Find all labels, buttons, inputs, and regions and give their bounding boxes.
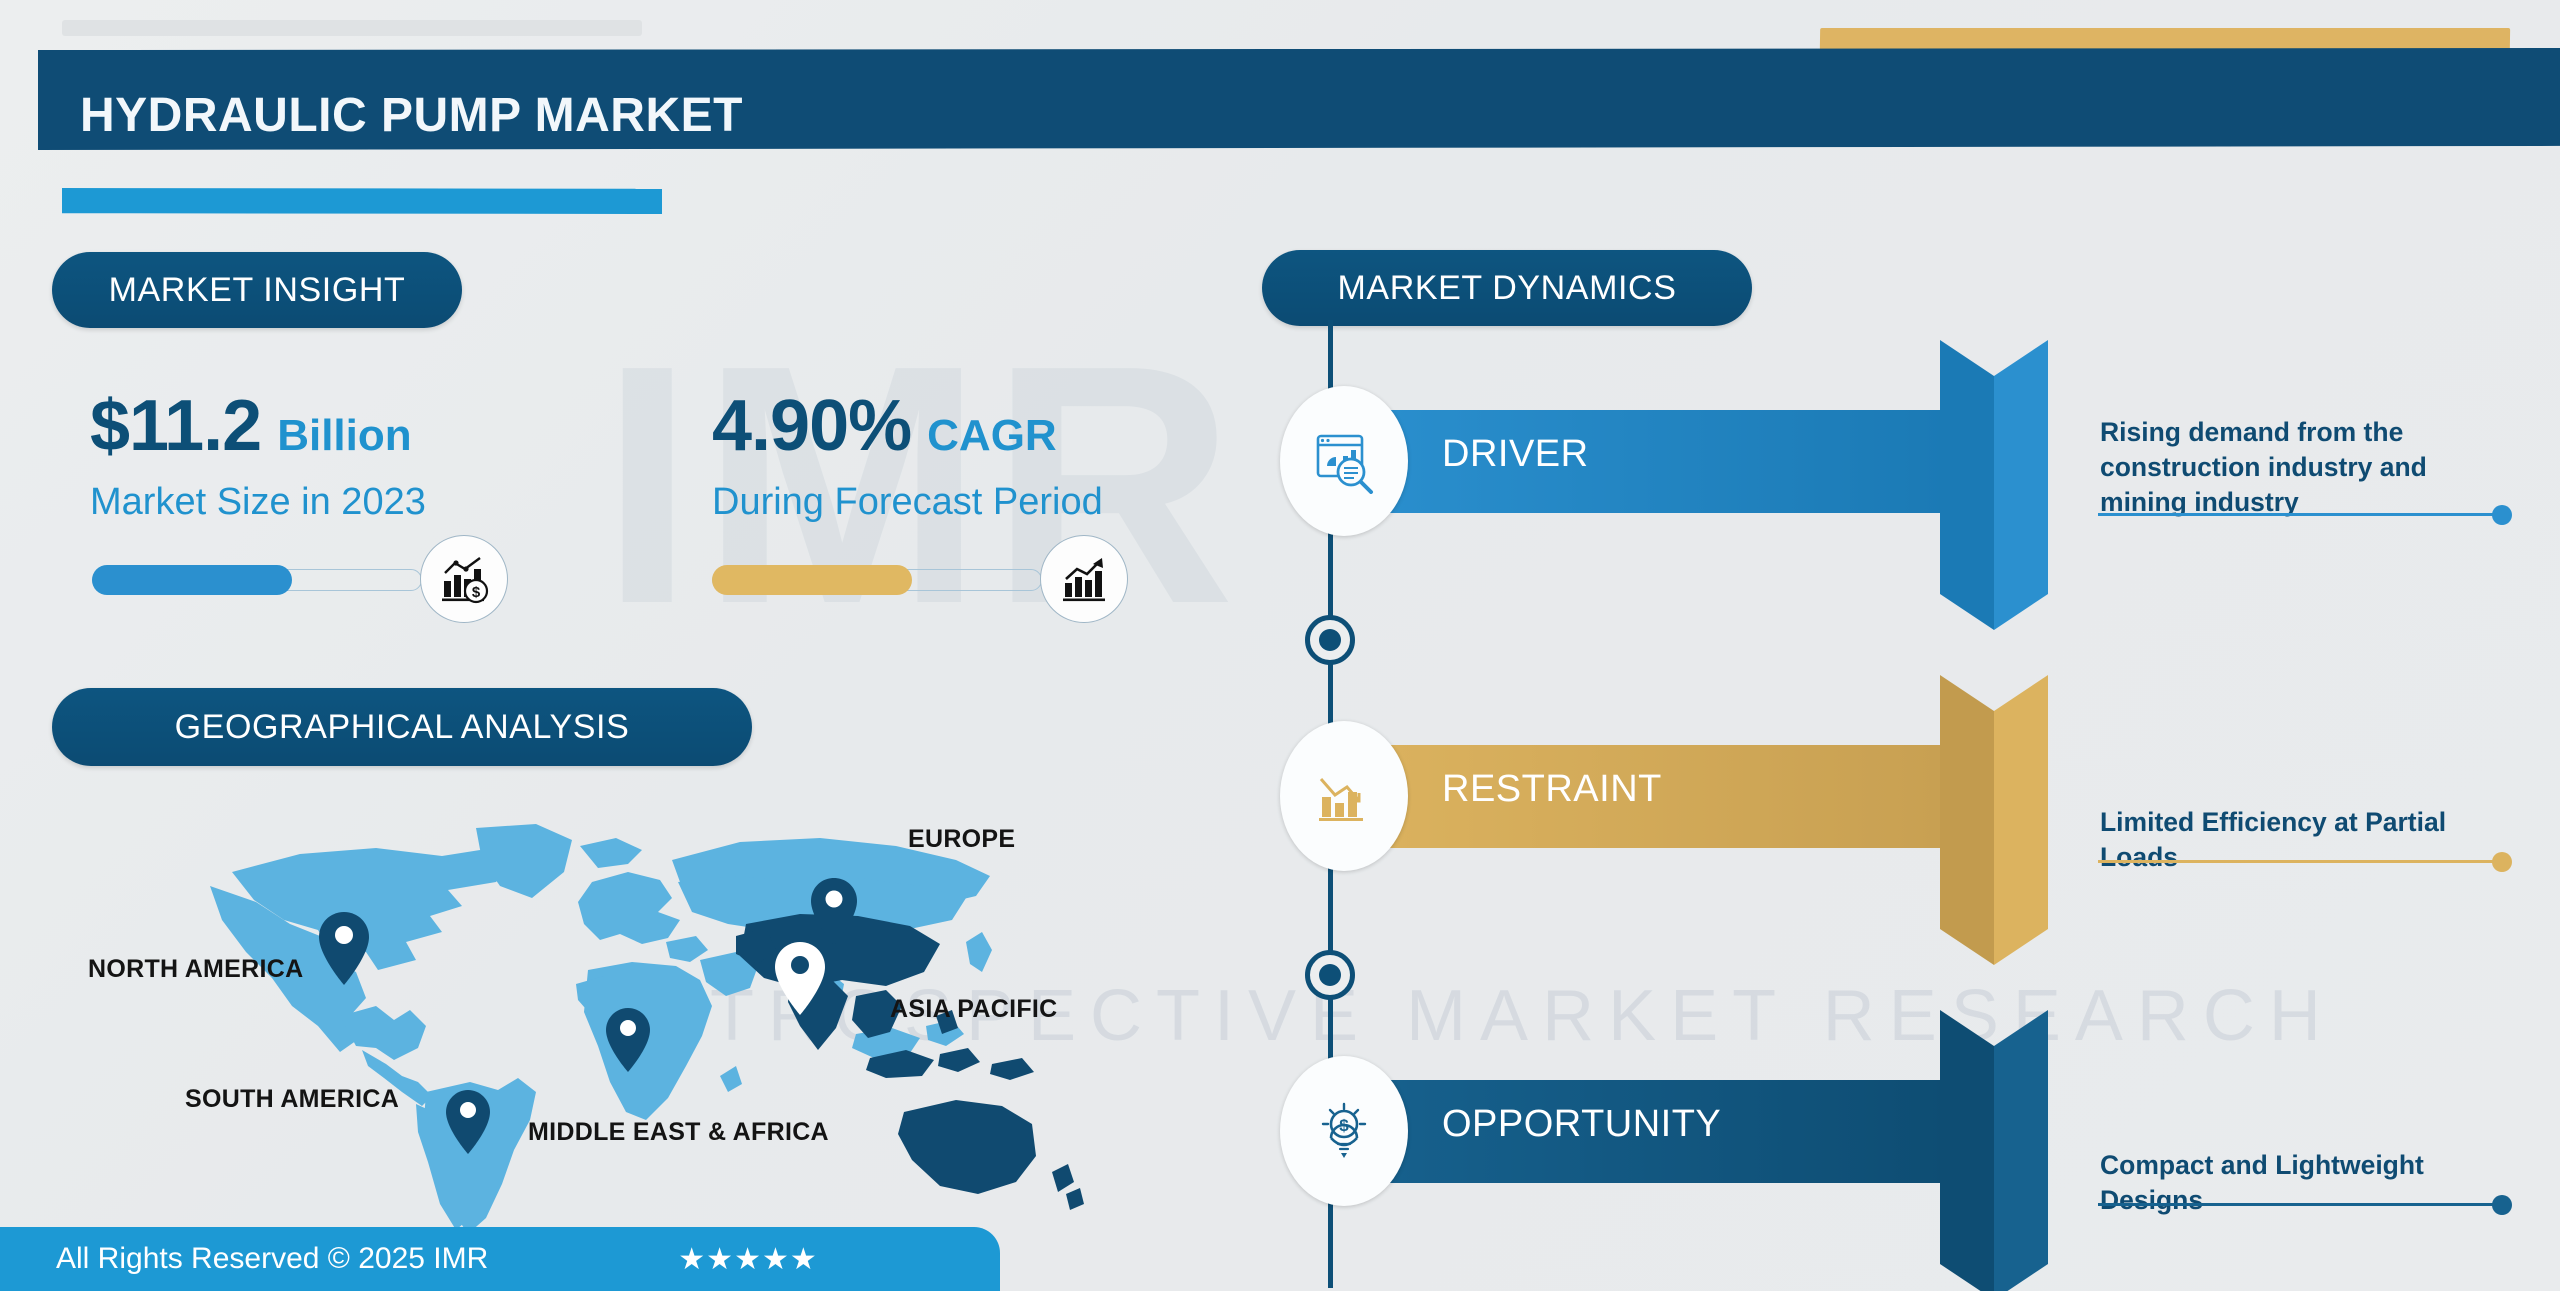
dynamics-row-driver: DRIVER Rising demand from the constructi…	[1280, 330, 2550, 630]
stat-cagr: 4.90% CAGR During Forecast Period	[712, 385, 1103, 524]
report-magnifier-icon	[1280, 386, 1408, 536]
declining-chart-icon	[1280, 721, 1408, 871]
driver-label: DRIVER	[1442, 433, 1589, 476]
stat-cagr-label: During Forecast Period	[712, 481, 1103, 524]
restraint-description: Limited Efficiency at Partial Loads	[2100, 805, 2520, 875]
growth-arrow-chart-icon	[1040, 535, 1128, 623]
driver-banner	[1328, 410, 1946, 513]
map-label-asia-pacific: ASIA PACIFIC	[890, 995, 1058, 1024]
market-size-progress: $	[92, 565, 422, 595]
bar-chart-dollar-icon: $	[420, 535, 508, 623]
stat-cagr-unit: CAGR	[927, 411, 1057, 461]
infographic-canvas: IMR INTROSPECTIVE MARKET RESEARCH HYDRAU…	[0, 0, 2560, 1291]
restraint-label: RESTRAINT	[1442, 768, 1662, 811]
opportunity-label: OPPORTUNITY	[1442, 1103, 1721, 1146]
rating-stars: ★★★★★	[678, 1242, 817, 1277]
restraint-connector-line	[2098, 860, 2498, 863]
geographical-analysis-badge: GEOGRAPHICAL ANALYSIS	[52, 688, 752, 766]
progress-fill	[92, 565, 292, 595]
world-map	[180, 820, 1100, 1240]
header-blue-accent	[62, 188, 662, 214]
opportunity-description: Compact and Lightweight Designs	[2100, 1148, 2520, 1218]
map-label-south-america: SOUTH AMERICA	[185, 1085, 399, 1114]
header-shadow-bar	[62, 20, 642, 36]
driver-connector-line	[2098, 513, 2498, 516]
lightbulb-dollar-icon: $	[1280, 1056, 1408, 1206]
dynamics-row-restraint: RESTRAINT Limited Efficiency at Partial …	[1280, 665, 2550, 965]
footer-bar: All Rights Reserved © 2025 IMR ★★★★★	[0, 1227, 1000, 1291]
driver-arrow	[1940, 340, 2048, 630]
map-label-north-america: NORTH AMERICA	[88, 955, 303, 984]
header-gold-accent	[1820, 28, 2510, 50]
restraint-arrow	[1940, 675, 2048, 965]
stat-market-size-label: Market Size in 2023	[90, 481, 426, 524]
driver-description: Rising demand from the construction indu…	[2100, 415, 2520, 520]
svg-text:$: $	[472, 584, 481, 601]
stat-market-size-unit: Billion	[277, 411, 411, 461]
market-insight-badge: MARKET INSIGHT	[52, 252, 462, 328]
page-title: HYDRAULIC PUMP MARKET	[80, 88, 743, 143]
progress-fill	[712, 565, 912, 595]
stat-cagr-value: 4.90%	[712, 385, 911, 467]
footer-copyright: All Rights Reserved © 2025 IMR	[56, 1242, 488, 1276]
dynamics-row-opportunity: $ OPPORTUNITY Compact and Lightweight De	[1280, 1000, 2550, 1291]
stat-market-size-value: $11.2	[90, 385, 261, 467]
market-dynamics-badge: MARKET DYNAMICS	[1262, 250, 1752, 326]
opportunity-connector-line	[2098, 1203, 2498, 1206]
map-label-middle-east-africa: MIDDLE EAST & AFRICA	[528, 1118, 829, 1147]
map-label-europe: EUROPE	[908, 825, 1015, 854]
opportunity-arrow	[1940, 1010, 2048, 1291]
stat-market-size: $11.2 Billion Market Size in 2023	[90, 385, 426, 524]
cagr-progress	[712, 565, 1042, 595]
